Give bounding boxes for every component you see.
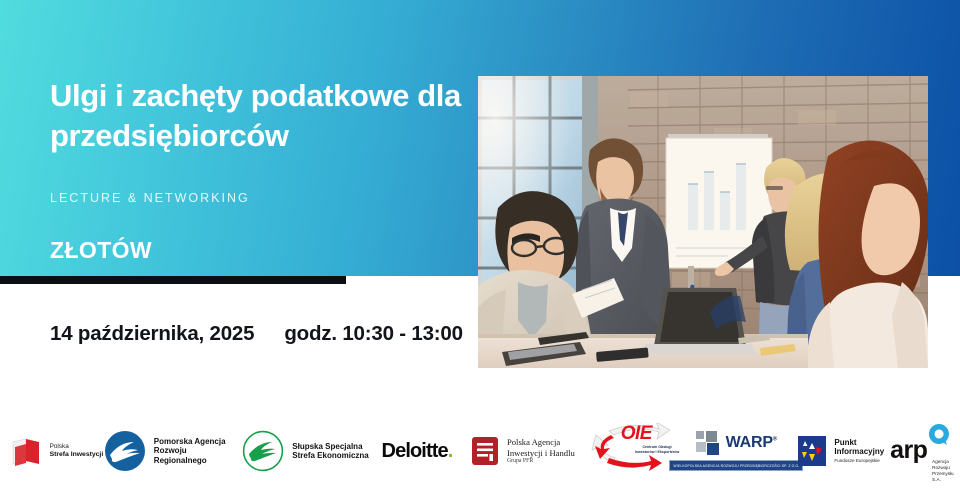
partner-name-line1: Polska	[50, 443, 104, 451]
polska-strefa-inwestycji-icon	[9, 434, 43, 468]
partner-name-line1: Pomorska Agencja	[154, 437, 240, 446]
partner-name-line1: Słupska Specjalna	[292, 442, 368, 451]
arp-subtitle-line4: S.A.	[932, 477, 953, 483]
hero-text-block: Ulgi i zachęty podatkowe dla przedsiębio…	[50, 76, 470, 264]
event-date-strip: 14 października, 2025 godz. 10:30 - 13:0…	[50, 322, 463, 346]
partner-name-line3: Grupa PFR	[507, 458, 575, 465]
partner-name-line2: Informacyjny	[834, 447, 884, 456]
arp-wordmark: arp	[890, 439, 927, 462]
partner-logo-pomorska-agencja[interactable]: Pomorska Agencja Rozwoju Regionalnego	[104, 409, 240, 493]
deloitte-dot: .	[448, 440, 453, 462]
oie-wordmark: OIE	[621, 423, 652, 445]
slupska-sse-icon	[242, 430, 284, 472]
partner-name-line2: Rozwoju Regionalnego	[154, 446, 240, 465]
partner-name-line2: Strefa Inwestycji	[50, 451, 104, 459]
partner-logo-slupska-sse[interactable]: Słupska Specjalna Strefa Ekonomiczna	[240, 409, 371, 493]
hero-accent-bar	[0, 276, 346, 284]
warp-wordmark: WARP®	[726, 434, 777, 452]
partner-name-line2: Inwestycji i Handlu	[507, 448, 575, 458]
event-banner: Ulgi i zachęty podatkowe dla przedsiębio…	[0, 0, 960, 502]
partner-name-line2: Strefa Ekonomiczna	[292, 451, 368, 460]
partner-logo-deloitte[interactable]: Deloitte.	[371, 409, 463, 493]
deloitte-wordmark: Deloitte.	[382, 440, 453, 463]
partner-logo-paih[interactable]: Polska Agencja Inwestycji i Handlu Grupa…	[463, 409, 583, 493]
partner-logo-polska-strefa-inwestycji[interactable]: Polska Strefa Inwestycji	[0, 409, 104, 493]
event-city: ZŁOTÓW	[50, 205, 470, 264]
partner-logo-oie[interactable]: OIE Centrum Obsługi Inwestorów i Eksport…	[583, 409, 681, 493]
oie-subtitle-line2: Inwestorów i Eksporterów	[635, 450, 680, 455]
warp-squares-icon	[696, 431, 720, 455]
event-time: godz. 10:30 - 13:00	[284, 322, 463, 346]
partner-logo-arp[interactable]: arp Agencja Rozwoju Przemysłu S.A.	[888, 409, 960, 493]
partner-logo-warp[interactable]: WARP® WIELKOPOLSKA AGENCJA ROZWOJU PRZED…	[680, 409, 792, 493]
pomorska-agencja-icon	[104, 430, 146, 472]
warp-subtitle-strip: WIELKOPOLSKA AGENCJA ROZWOJU PRZEDSIĘBIO…	[669, 460, 803, 471]
partner-name-line1: Punkt	[834, 438, 884, 447]
partner-name-line3: Fundusze Europejskie	[834, 457, 884, 464]
event-date: 14 października, 2025	[50, 322, 254, 346]
partner-logo-bar: Polska Strefa Inwestycji Pomorska Agencj…	[0, 400, 960, 502]
event-kicker: LECTURE & NETWORKING	[50, 155, 470, 205]
arp-ring-icon	[928, 423, 950, 445]
fundusze-europejskie-icon	[796, 434, 828, 468]
registered-mark: ®	[773, 437, 777, 443]
page-title: Ulgi i zachęty podatkowe dla przedsiębio…	[50, 76, 470, 155]
partner-name-line1: Polska Agencja	[507, 437, 575, 447]
partner-logo-punkt-informacyjny[interactable]: Punkt Informacyjny Fundusze Europejskie	[792, 409, 888, 493]
event-photo	[478, 76, 928, 368]
paih-icon	[471, 435, 499, 467]
